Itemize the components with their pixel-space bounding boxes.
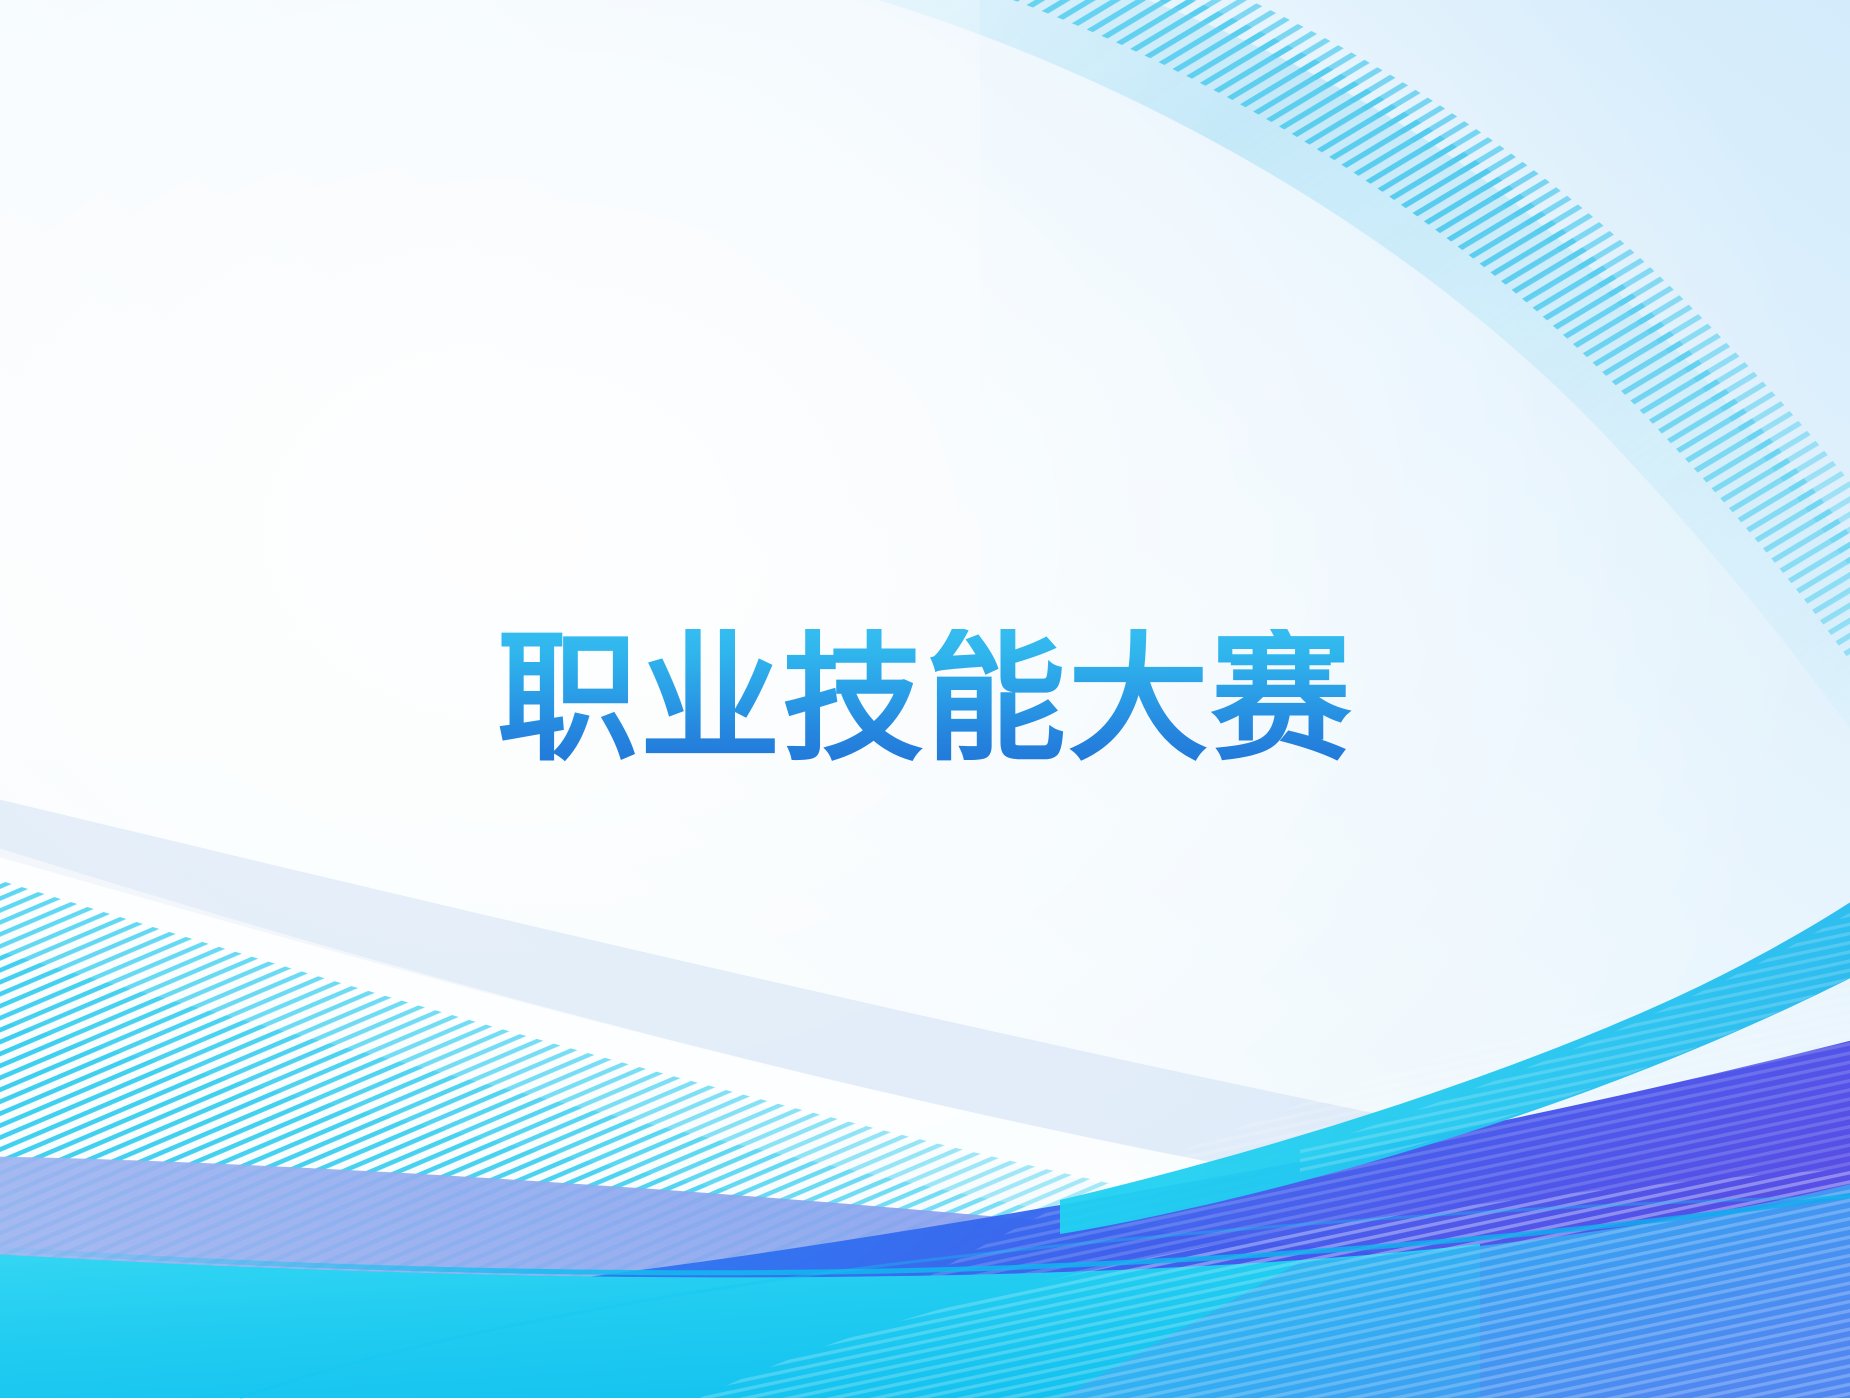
top-left-veil (0, 0, 980, 760)
presentation-slide: 职业技能大赛 (0, 0, 1850, 1400)
decorative-background-artwork (0, 0, 1850, 1400)
